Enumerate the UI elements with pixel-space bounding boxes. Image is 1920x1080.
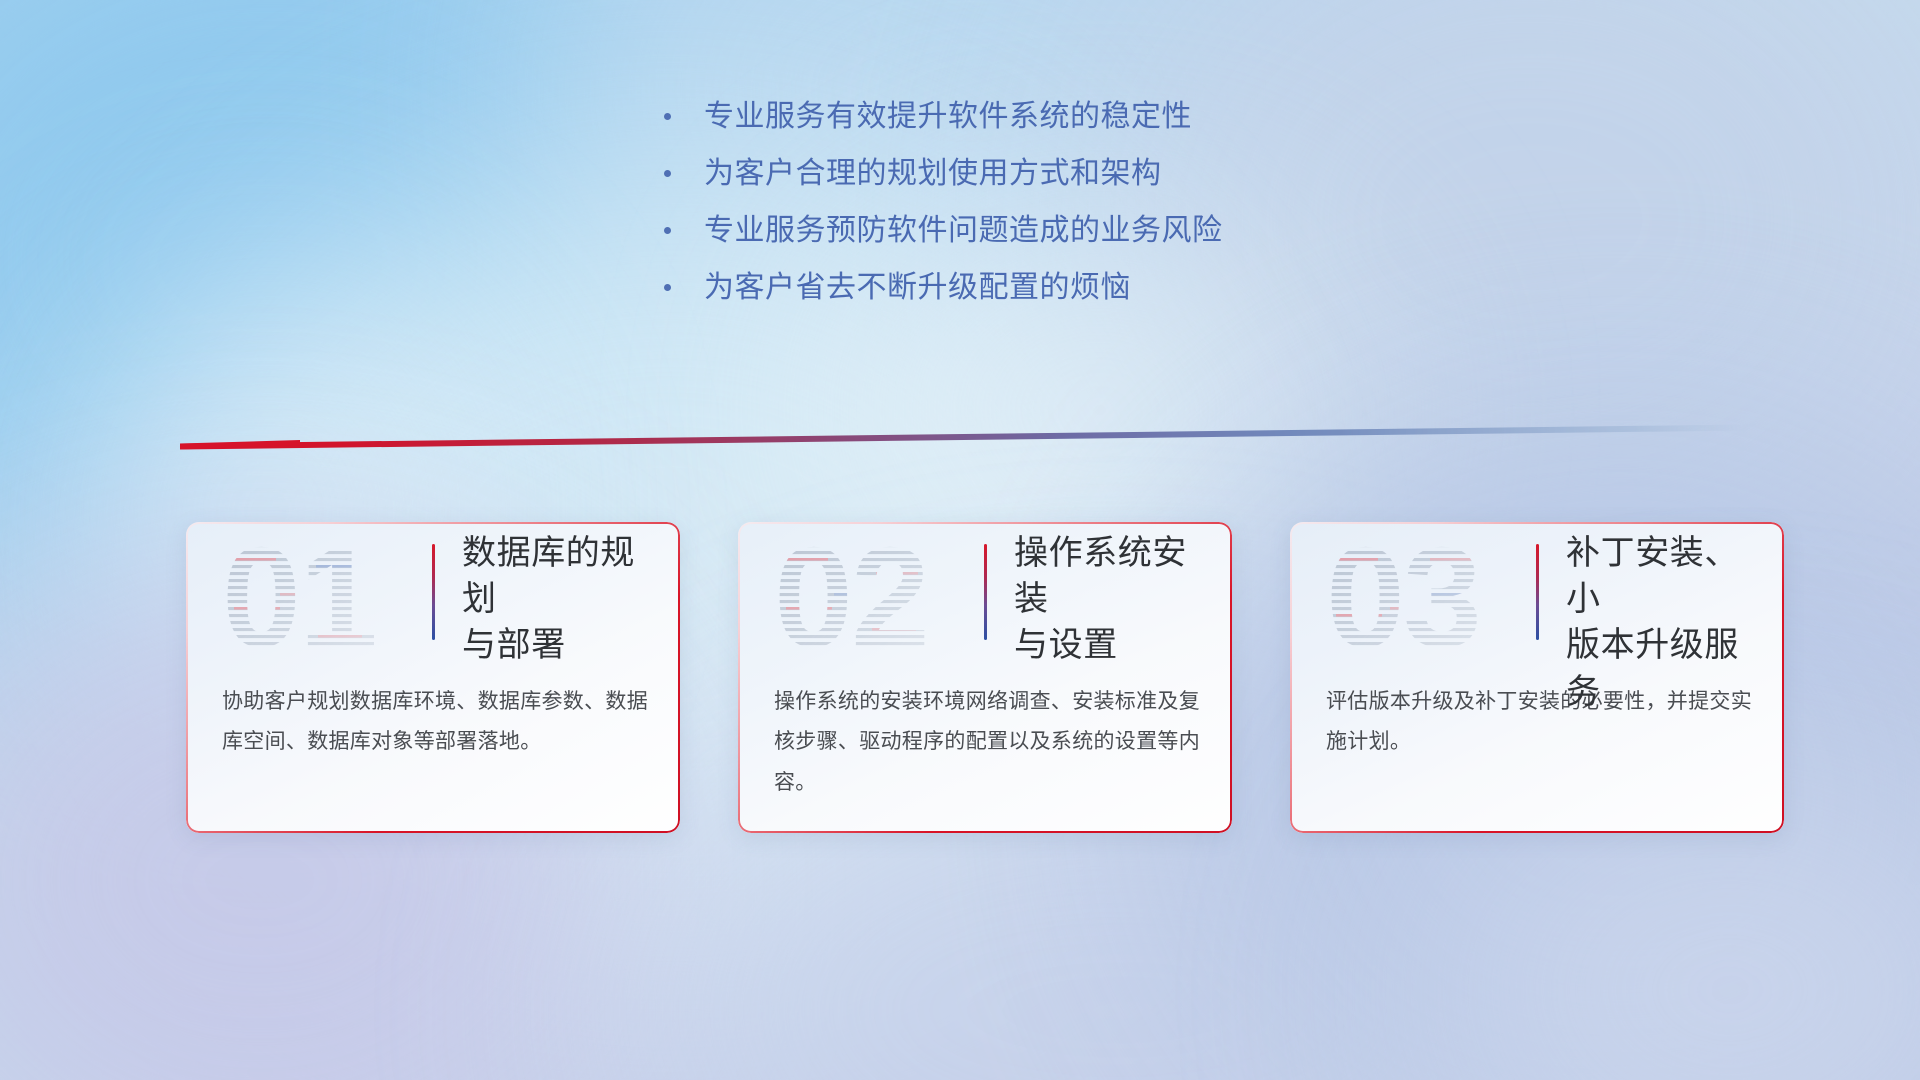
card-header: 03 补丁安装、小 版本升级服务: [1290, 522, 1784, 682]
bullet-dot-icon: [664, 284, 671, 291]
service-card-list: 01 数据库的规划 与部署: [186, 522, 1784, 833]
card-header: 01 数据库的规划 与部署: [186, 522, 680, 682]
card-description: 操作系统的安装环境网络调查、安装标准及复核步骤、驱动程序的配置以及系统的设置等内…: [774, 682, 1202, 803]
card-title: 操作系统安装 与设置: [1014, 530, 1210, 669]
card-title-line2: 与部署: [462, 622, 658, 668]
watermark-02-icon: 02: [772, 530, 972, 670]
list-item: 为客户省去不断升级配置的烦恼: [664, 273, 1223, 303]
service-card[interactable]: 01 数据库的规划 与部署: [186, 522, 680, 833]
card-number-watermark: 01: [220, 530, 420, 670]
card-number-watermark: 03: [1324, 530, 1524, 670]
card-title-line1: 操作系统安装: [1014, 530, 1210, 622]
card-title-line1: 补丁安装、小: [1566, 530, 1762, 622]
bullet-text: 专业服务有效提升软件系统的稳定性: [704, 102, 1192, 132]
divider-wedge-shape: [180, 418, 1750, 452]
card-title: 数据库的规划 与部署: [462, 530, 658, 669]
bullet-text: 为客户省去不断升级配置的烦恼: [704, 273, 1131, 303]
card-accent-bar: [1536, 544, 1539, 640]
card-title: 补丁安装、小 版本升级服务: [1566, 530, 1762, 715]
card-description: 协助客户规划数据库环境、数据库参数、数据库空间、数据库对象等部署落地。: [222, 682, 650, 763]
bullet-dot-icon: [664, 113, 671, 120]
watermark-01-icon: 01: [220, 530, 420, 670]
list-item: 专业服务预防软件问题造成的业务风险: [664, 216, 1223, 246]
bullet-dot-icon: [664, 227, 671, 234]
bullet-text: 专业服务预防软件问题造成的业务风险: [704, 216, 1223, 246]
card-title-line1: 数据库的规划: [462, 530, 658, 622]
card-accent-bar: [432, 544, 435, 640]
watermark-03-icon: 03: [1324, 530, 1524, 670]
benefits-bullet-list: 专业服务有效提升软件系统的稳定性 为客户合理的规划使用方式和架构 专业服务预防软…: [664, 102, 1223, 330]
card-number-watermark: 02: [772, 530, 972, 670]
list-item: 专业服务有效提升软件系统的稳定性: [664, 102, 1223, 132]
bullet-text: 为客户合理的规划使用方式和架构: [704, 159, 1162, 189]
card-header: 02 操作系统安装 与设置: [738, 522, 1232, 682]
card-title-line2: 版本升级服务: [1566, 622, 1762, 714]
card-accent-bar: [984, 544, 987, 640]
list-item: 为客户合理的规划使用方式和架构: [664, 159, 1223, 189]
bullet-dot-icon: [664, 170, 671, 177]
card-title-line2: 与设置: [1014, 622, 1210, 668]
service-card[interactable]: 03 补丁安装、小 版本升级服务: [1290, 522, 1784, 833]
section-divider: [180, 418, 1750, 452]
service-card[interactable]: 02 操作系统安装 与设置: [738, 522, 1232, 833]
